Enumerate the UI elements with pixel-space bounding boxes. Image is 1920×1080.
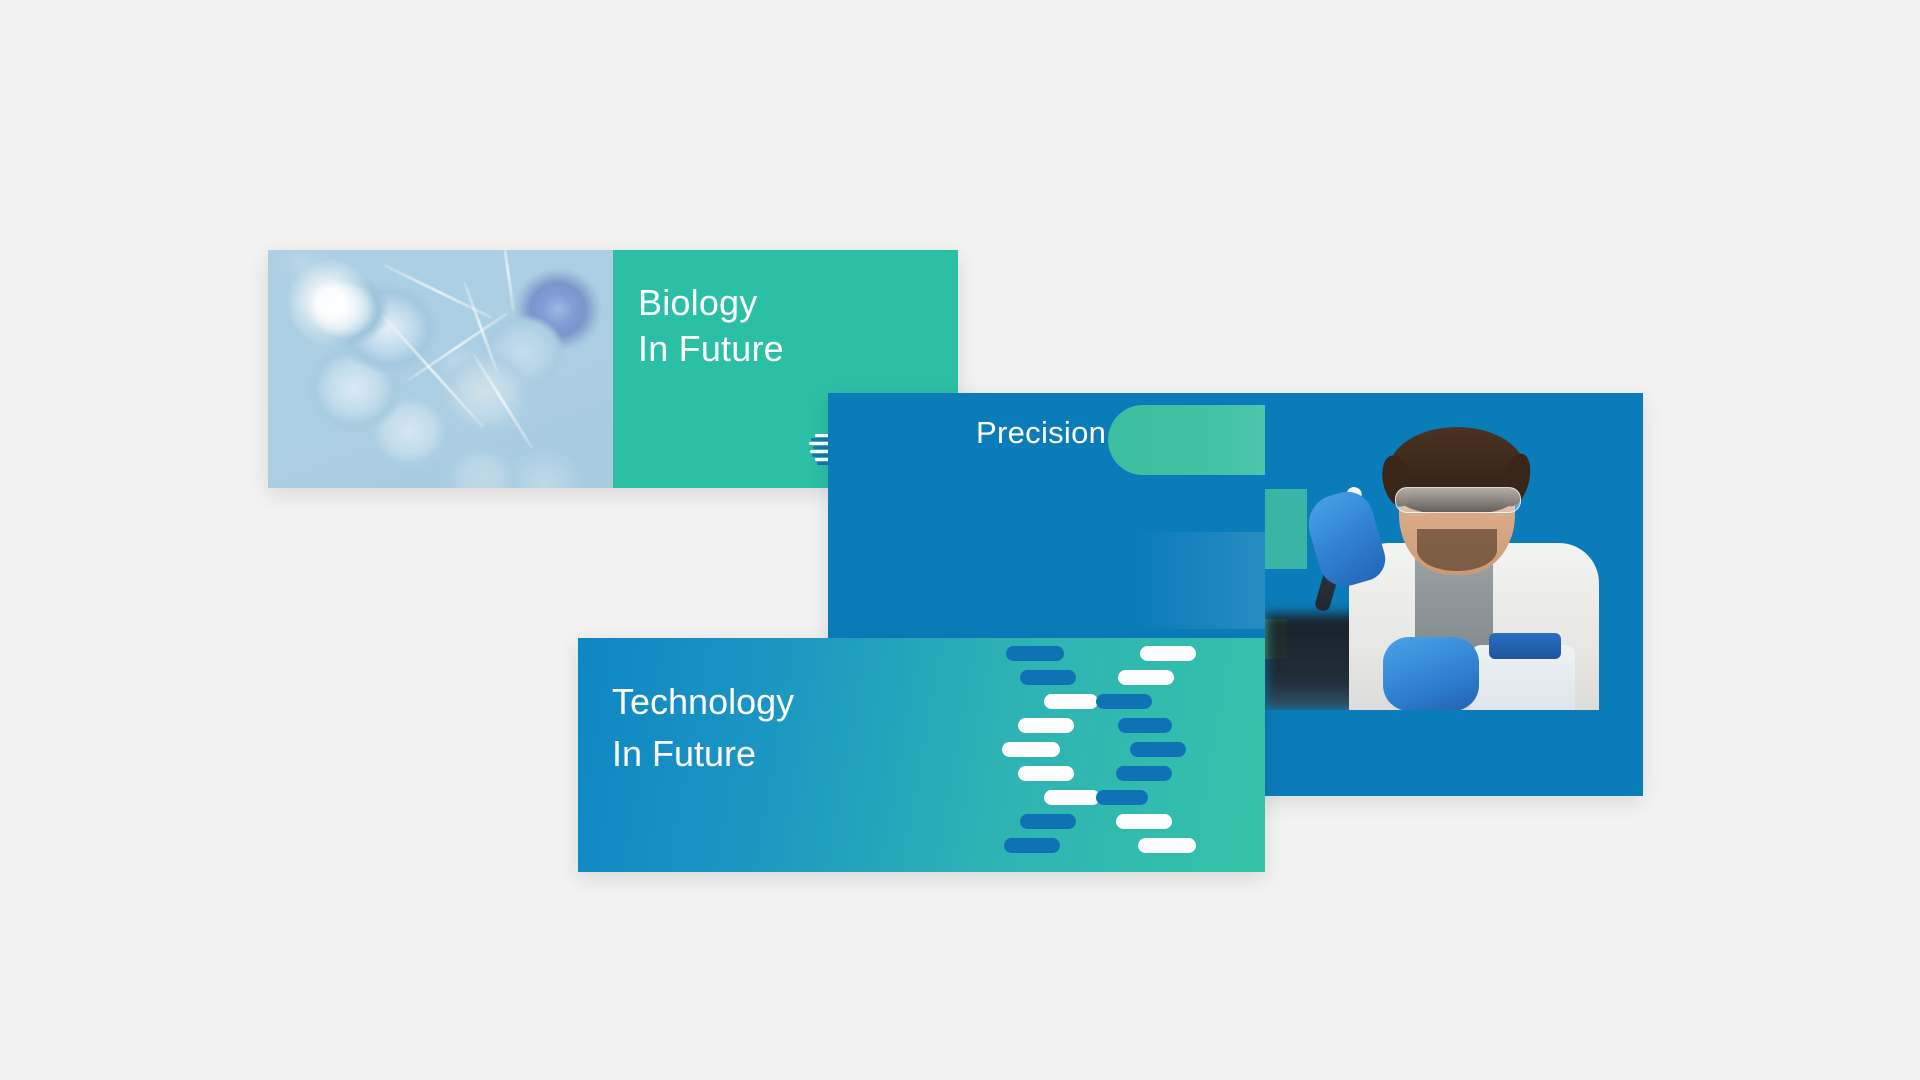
gel-band-4-right <box>1118 718 1172 733</box>
gel-band-1-right <box>1140 646 1196 661</box>
gel-band-3-left <box>1044 694 1098 709</box>
gel-band-7-right <box>1096 790 1148 805</box>
gel-band-5-left <box>1002 742 1060 757</box>
gel-band-6-left <box>1018 766 1074 781</box>
gel-band-4-left <box>1018 718 1074 733</box>
biology-text-block: Biology In Future <box>638 280 784 372</box>
gel-band-6-right <box>1116 766 1172 781</box>
technology-text-block: Technology In Future <box>612 676 794 780</box>
molecular-model-image <box>268 250 613 488</box>
biology-headline: Biology In Future <box>638 280 784 372</box>
gel-band-8-left <box>1020 814 1076 829</box>
gel-band-8-right <box>1116 814 1172 829</box>
gel-band-9-left <box>1004 838 1060 853</box>
gel-band-5-right <box>1130 742 1186 757</box>
collage-stage: Biology In Future BIOASSIST 佰 奥 斯 特 Prec… <box>0 0 1920 1080</box>
gel-band-2-left <box>1020 670 1076 685</box>
gel-band-7-left <box>1044 790 1100 805</box>
gel-band-1-left <box>1006 646 1064 661</box>
gel-band-3-right <box>1096 694 1152 709</box>
technology-in-future-banner[interactable]: Technology In Future <box>578 638 1265 872</box>
precision-headline: Precision <box>976 415 1106 451</box>
gel-band-2-right <box>1118 670 1174 685</box>
technology-headline: Technology In Future <box>612 676 794 780</box>
dna-gel-electrophoresis-bands <box>988 638 1218 872</box>
gel-band-9-right <box>1138 838 1196 853</box>
scientist-photo <box>1265 393 1643 710</box>
